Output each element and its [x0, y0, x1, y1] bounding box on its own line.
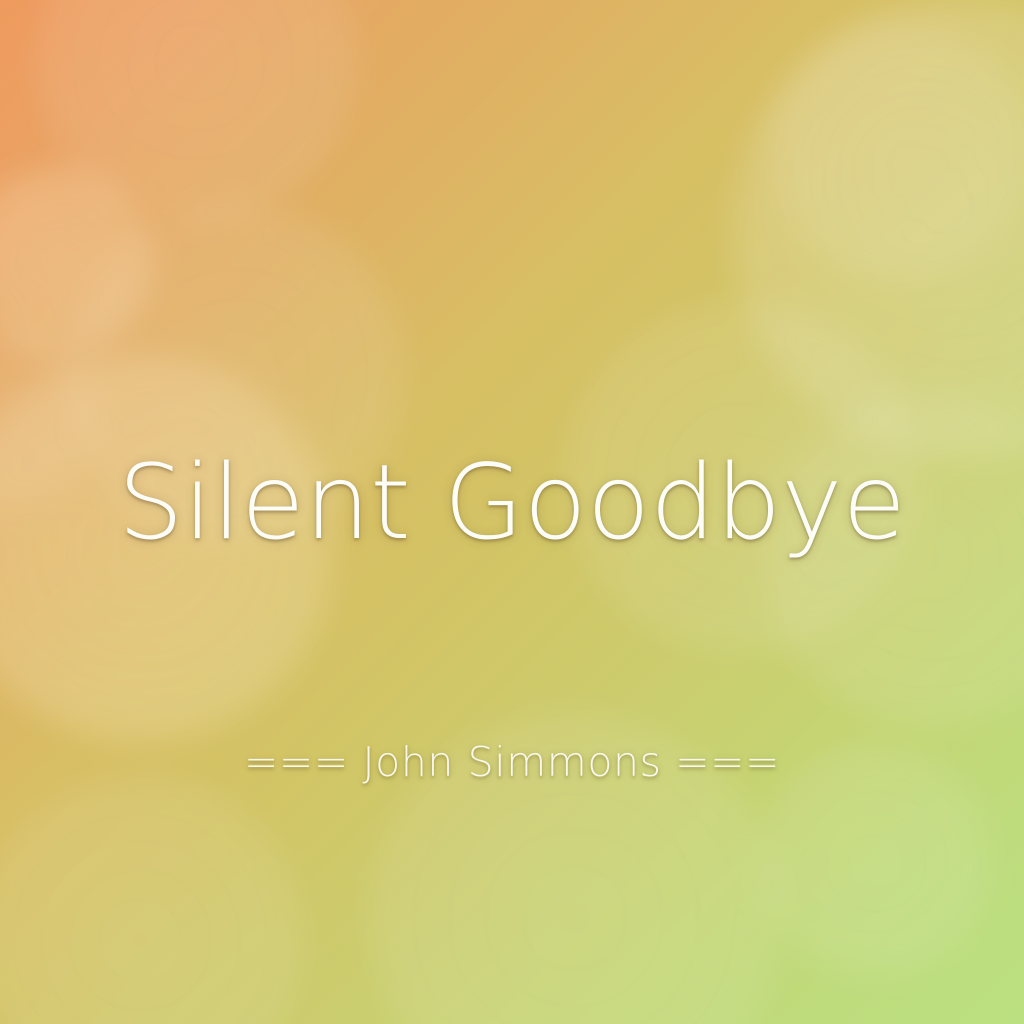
album-cover-artwork: Silent Goodbye === John Simmons ===	[0, 0, 1024, 1024]
album-title: Silent Goodbye	[0, 452, 1024, 555]
cover-text-block: Silent Goodbye === John Simmons ===	[0, 0, 1024, 1024]
album-artist-name: === John Simmons ===	[0, 742, 1024, 783]
